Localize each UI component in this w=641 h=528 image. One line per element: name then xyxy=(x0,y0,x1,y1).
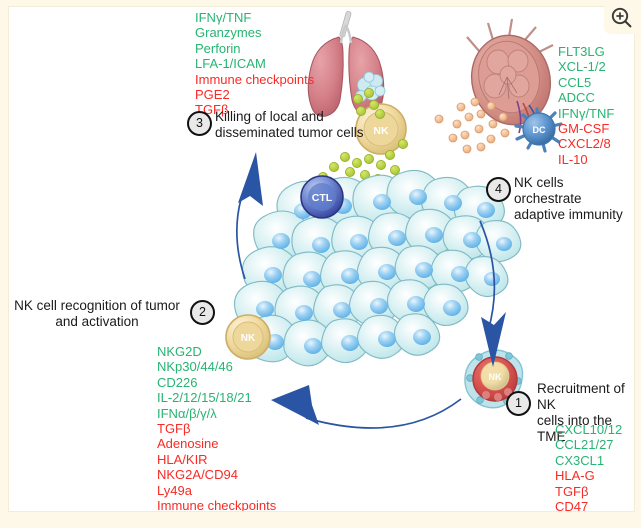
zoom-in-icon[interactable] xyxy=(611,7,632,28)
cytokine-dots xyxy=(435,98,509,153)
molecule-item: CD226 xyxy=(157,375,276,390)
step-number-4[interactable]: 4 xyxy=(486,177,511,202)
molecule-item: TGFβ xyxy=(555,484,622,499)
step-2-caption-line1: NK cell recognition of tumor xyxy=(11,298,183,314)
cycle-arrows xyxy=(237,152,506,428)
molecule-item: CX3CL1 xyxy=(555,453,622,468)
figure-canvas: DC NK xyxy=(9,7,634,511)
step-number-3[interactable]: 3 xyxy=(187,111,212,136)
step-4-caption-line1: NK cells orchestrate xyxy=(514,175,634,207)
figure-frame: DC NK xyxy=(0,0,641,528)
molecule-item: IFNα/β/γ/λ xyxy=(157,406,276,421)
lymph-node-illustration xyxy=(462,19,559,133)
molecule-item: HLA-G xyxy=(555,468,622,483)
step-2-caption-line2: and activation xyxy=(11,314,183,330)
molecule-item: FLT3LG xyxy=(558,44,614,59)
step-1-molecule-list: CXCL10/12 CCL21/27 CX3CL1 HLA-G TGFβ CD4… xyxy=(555,422,622,511)
molecule-item: XCL-1/2 xyxy=(558,59,614,74)
step-2-molecule-list: NKG2D NKp30/44/46 CD226 IL-2/12/15/18/21… xyxy=(157,344,276,511)
molecule-item: LFA-1/ICAM xyxy=(195,56,314,71)
molecule-item: Perforin xyxy=(195,41,314,56)
step-4-caption-line2: adaptive immunity xyxy=(514,207,634,223)
step-4-caption: NK cells orchestrate adaptive immunity xyxy=(514,175,634,223)
molecule-item: IFNγ/TNF xyxy=(558,106,614,121)
molecule-item: NKG2A/CD94 xyxy=(157,467,276,482)
ctl-cell-illustration: CTL xyxy=(301,176,343,218)
tumor-cell-cluster-illustration xyxy=(235,170,521,365)
step-3-caption-line1: Killing of local and xyxy=(215,109,364,125)
step-number-2[interactable]: 2 xyxy=(190,300,215,325)
dc-cell-label: DC xyxy=(533,125,546,135)
molecule-item: HLA/KIR xyxy=(157,452,276,467)
step-3-caption-line2: disseminated tumor cells xyxy=(215,125,364,141)
nk-top-label: NK xyxy=(373,125,389,137)
molecule-item: Ly49a xyxy=(157,483,276,498)
step-3-molecule-list: IFNγ/TNF Granzymes Perforin LFA-1/ICAM I… xyxy=(195,10,314,118)
nk-vessel-label: NK xyxy=(489,372,502,382)
dendritic-cell-illustration: DC xyxy=(516,109,561,151)
molecule-item: IFNγ/TNF xyxy=(195,10,314,25)
nk-left-label: NK xyxy=(241,333,256,344)
step-4-molecule-list: FLT3LG XCL-1/2 CCL5 ADCC IFNγ/TNF GM-CSF… xyxy=(558,44,614,167)
molecule-item: NKp30/44/46 xyxy=(157,359,276,374)
molecule-item: CXCL10/12 xyxy=(555,422,622,437)
molecule-item: Granzymes xyxy=(195,25,314,40)
molecule-item: NKG2D xyxy=(157,344,276,359)
step-number-1[interactable]: 1 xyxy=(506,391,531,416)
lung-organ-illustration xyxy=(308,11,385,116)
molecule-item: IL-2/12/15/18/21 xyxy=(157,390,276,405)
molecule-item: IL-10 xyxy=(558,152,614,167)
molecule-item: CXCL2/8 xyxy=(558,136,614,151)
molecule-item: GM-CSF xyxy=(558,121,614,136)
cytotoxic-granule-dots xyxy=(310,88,407,205)
molecule-item: Adenosine xyxy=(157,436,276,451)
molecule-item: Immune checkpoints xyxy=(195,72,314,87)
molecule-item: CCL5 xyxy=(558,75,614,90)
molecule-item: Immune checkpoints xyxy=(157,498,276,511)
molecule-item: TGFβ xyxy=(157,421,276,436)
molecule-item: CCL21/27 xyxy=(555,437,622,452)
step-1-caption-line1: Recruitment of NK xyxy=(537,381,634,413)
molecule-item: PGE2 xyxy=(195,87,314,102)
step-3-caption: Killing of local and disseminated tumor … xyxy=(215,109,364,141)
ctl-cell-label: CTL xyxy=(312,192,333,204)
molecule-item: CD47 xyxy=(555,499,622,511)
molecule-item: ADCC xyxy=(558,90,614,105)
step-2-caption: NK cell recognition of tumor and activat… xyxy=(11,298,183,330)
